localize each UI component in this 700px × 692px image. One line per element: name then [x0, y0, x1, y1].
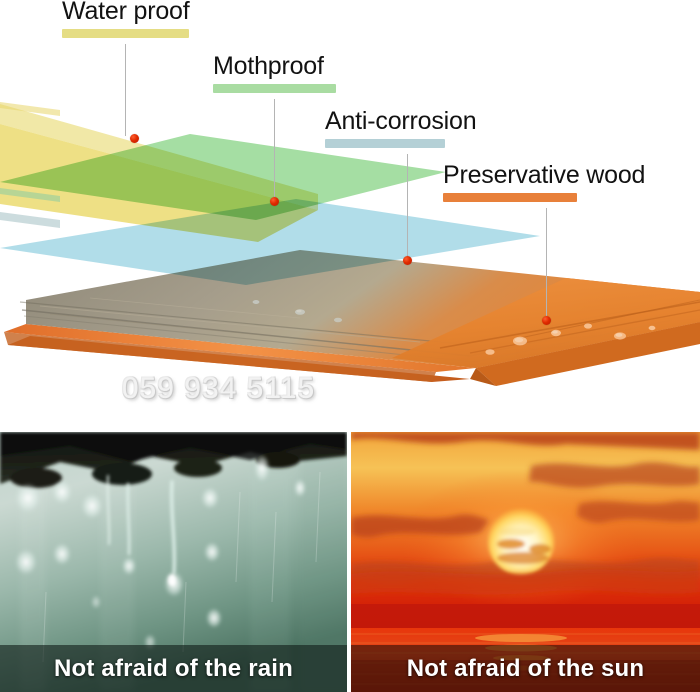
leader-line-anti-corrosion [407, 154, 408, 258]
callout-swatch-anti-corrosion [325, 139, 445, 148]
callout-label-anti-corrosion: Anti-corrosion [325, 108, 476, 134]
sun-caption-text: Not afraid of the sun [407, 655, 645, 683]
callout-swatch-mothproof [213, 84, 336, 93]
callout-mothproof: Mothproof [213, 53, 336, 93]
callout-anti-corrosion: Anti-corrosion [325, 108, 476, 148]
marker-dot-water-proof [130, 134, 139, 143]
callout-label-mothproof: Mothproof [213, 53, 336, 79]
callout-swatch-preservative-wood [443, 193, 577, 202]
callout-preservative-wood: Preservative wood [443, 162, 645, 202]
callout-label-preservative-wood: Preservative wood [443, 162, 645, 188]
callout-label-water-proof: Water proof [62, 0, 189, 24]
marker-dot-mothproof [270, 197, 279, 206]
photo-strip: Not afraid of the rain [0, 432, 700, 692]
marker-dot-anti-corrosion [403, 256, 412, 265]
marker-dot-preservative-wood [542, 316, 551, 325]
sun-photo: Not afraid of the sun [351, 432, 700, 692]
callout-swatch-water-proof [62, 29, 189, 38]
rain-caption-bar: Not afraid of the rain [0, 645, 347, 692]
product-infographic-panel: Water proof Mothproof Anti-corrosion Pre… [0, 0, 700, 432]
rain-caption-text: Not afraid of the rain [54, 655, 293, 683]
layer-edge-stack [0, 96, 60, 286]
sun-caption-bar: Not afraid of the sun [351, 645, 700, 692]
rain-photo: Not afraid of the rain [0, 432, 347, 692]
leader-line-mothproof [274, 99, 275, 199]
leader-line-preservative-wood [546, 208, 547, 318]
phone-number-watermark: 059 934 5115 [122, 372, 315, 406]
leader-line-water-proof [125, 44, 126, 136]
callout-water-proof: Water proof [62, 0, 189, 38]
